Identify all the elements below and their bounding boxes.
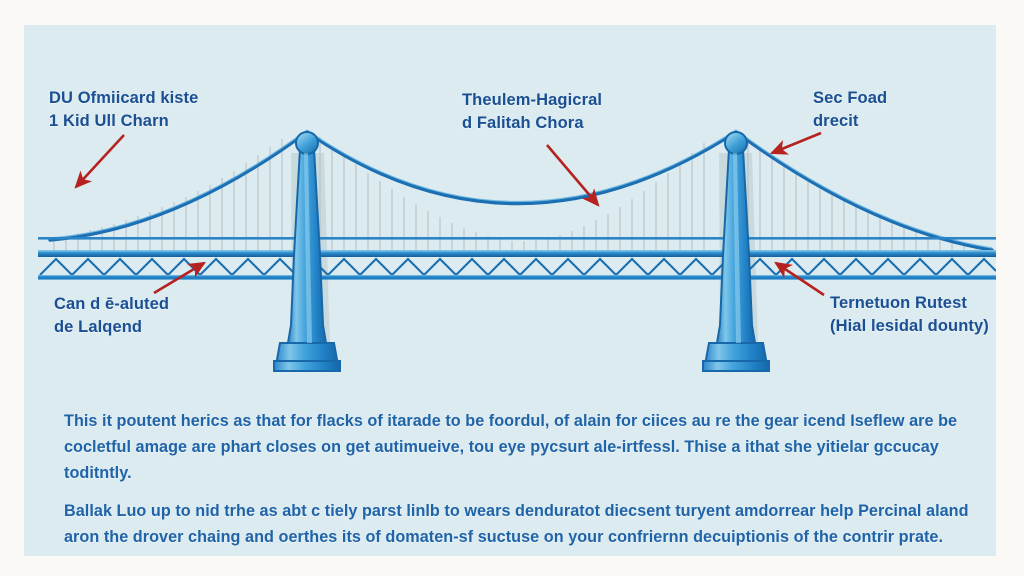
- callout-label-suspenders: Theulem-Hagicral d Falitah Chora: [462, 89, 602, 135]
- callout-label-deck: Can d ē-aluted de Lalqend: [54, 293, 169, 339]
- main-cable: [50, 132, 992, 250]
- arrow-main-cable: [76, 135, 124, 187]
- deck-roadway: [38, 237, 996, 257]
- paragraph-2: Ballak Luo up to nid trhe as abt c tiely…: [64, 498, 969, 550]
- callout-label-main-cable: DU Ofmiicard kiste 1 Kid Ull Charn: [49, 87, 198, 133]
- callout-arrows: [76, 133, 824, 295]
- callout-label-tower: Sec Foad drecit: [813, 87, 887, 133]
- paragraph-1: This it poutent herics as that for flack…: [64, 408, 969, 487]
- callout-label-span: Ternetuon Rutest (Hial lesidal dounty): [830, 292, 989, 338]
- suspender-cables: [54, 137, 988, 253]
- figure-root: DU Ofmiicard kiste 1 Kid Ull Charn Theul…: [0, 0, 1024, 576]
- arrow-tower: [772, 133, 821, 153]
- diagram-panel: DU Ofmiicard kiste 1 Kid Ull Charn Theul…: [24, 25, 996, 556]
- arrow-suspenders: [547, 145, 598, 205]
- main-cable-highlight: [50, 130, 992, 248]
- truss-webbing: [40, 259, 996, 275]
- description-text-block: This it poutent herics as that for flack…: [64, 408, 969, 550]
